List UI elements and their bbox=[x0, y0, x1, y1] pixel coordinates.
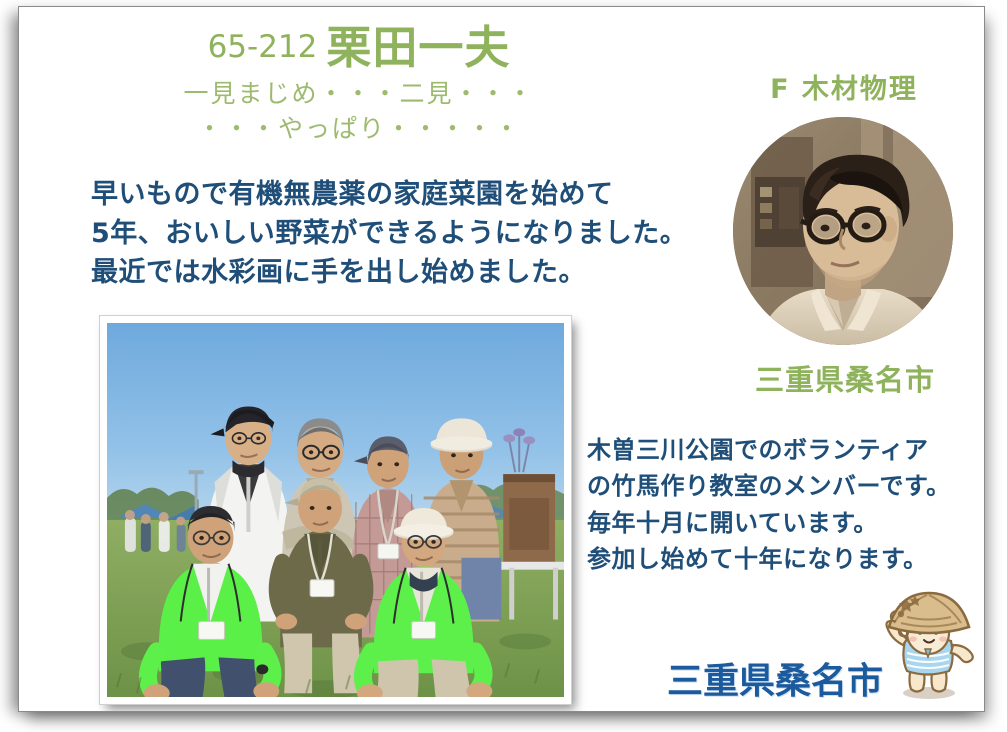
intro-text: 早いもので有機無農薬の家庭菜園を始めて 5年、おいしい野菜ができるようになりまし… bbox=[91, 175, 701, 292]
member-id: 65-212 bbox=[208, 29, 318, 65]
volunteer-note: 木曽三川公園でのボランティア の竹馬作り教室のメンバーです。 毎年十月に開いてい… bbox=[587, 432, 984, 578]
intro-line-1: 早いもので有機無農薬の家庭菜園を始めて bbox=[91, 175, 701, 214]
note-line-1: 木曽三川公園でのボランティア bbox=[587, 432, 984, 468]
group-photo bbox=[107, 323, 564, 697]
intro-line-2: 5年、おいしい野菜ができるようになりました。 bbox=[91, 214, 701, 253]
subtitle-line-2: ・・・やっぱり・・・・・ bbox=[19, 112, 699, 147]
subtitle-line-1: 一見まじめ・・・二見・・・ bbox=[183, 79, 534, 108]
footer-city-label: 三重県桑名市 bbox=[667, 652, 883, 704]
kuwana-mascot-icon bbox=[867, 587, 984, 702]
group-photo-illustration bbox=[107, 323, 564, 697]
portrait-photo bbox=[733, 117, 953, 345]
header-subtitle: 一見まじめ・・・二見・・・ ・・・やっぱり・・・・・ bbox=[19, 77, 699, 146]
mascot-illustration bbox=[867, 587, 984, 702]
department-label: F 木材物理 bbox=[719, 67, 969, 106]
intro-line-3: 最近では水彩画に手を出し始めました。 bbox=[91, 253, 701, 292]
portrait-caption: 三重県桑名市 bbox=[709, 357, 981, 399]
poster-page: 65-212栗田一夫 一見まじめ・・・二見・・・ ・・・やっぱり・・・・・ F … bbox=[0, 0, 1007, 732]
header-block: 65-212栗田一夫 一見まじめ・・・二見・・・ ・・・やっぱり・・・・・ bbox=[19, 25, 699, 146]
group-photo-frame bbox=[99, 315, 572, 705]
portrait-illustration bbox=[733, 117, 953, 345]
note-line-4: 参加し始めて十年になります。 bbox=[587, 541, 984, 577]
poster-frame: 65-212栗田一夫 一見まじめ・・・二見・・・ ・・・やっぱり・・・・・ F … bbox=[18, 6, 985, 712]
member-name: 栗田一夫 bbox=[326, 21, 510, 74]
note-line-3: 毎年十月に開いています。 bbox=[587, 505, 984, 541]
header-title-line: 65-212栗田一夫 bbox=[19, 25, 699, 70]
note-line-2: の竹馬作り教室のメンバーです。 bbox=[587, 468, 984, 504]
